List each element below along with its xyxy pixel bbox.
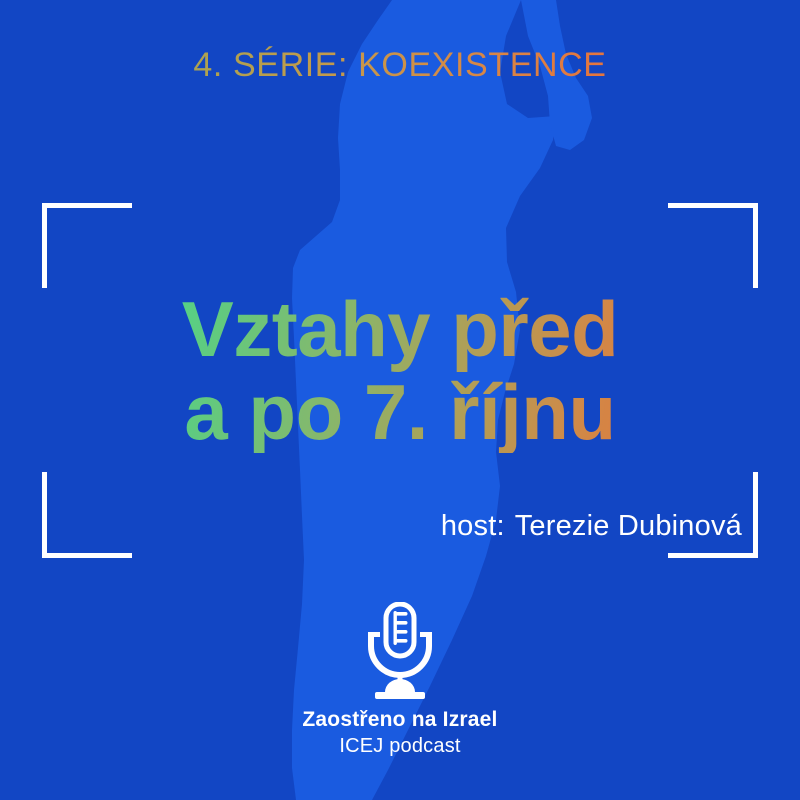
bracket-arm-vertical [42, 472, 47, 558]
bracket-arm-horizontal [42, 203, 132, 208]
corner-bracket-bottom-left [42, 472, 132, 558]
microphone-icon [357, 602, 443, 702]
bracket-arm-vertical [753, 472, 758, 558]
series-label: 4. SÉRIE: KOEXISTENCE [0, 46, 800, 85]
episode-title: Vztahy před a po 7. říjnu [0, 288, 800, 453]
bracket-arm-vertical [42, 203, 47, 288]
host-label: host: [441, 510, 505, 542]
bracket-arm-horizontal [668, 553, 758, 558]
episode-title-line-2: a po 7. říjnu [0, 371, 800, 454]
host-line: host:Terezie Dubinová [441, 510, 742, 543]
podcast-name: Zaostřeno na Izrael [0, 708, 800, 732]
podcast-logo: Zaostřeno na Izrael ICEJ podcast [0, 602, 800, 758]
host-name: Terezie Dubinová [515, 510, 742, 542]
corner-bracket-top-left [42, 203, 132, 288]
bracket-arm-horizontal [42, 553, 132, 558]
podcast-cover: 4. SÉRIE: KOEXISTENCE Vztahy před a po 7… [0, 0, 800, 800]
podcast-subtitle: ICEJ podcast [0, 735, 800, 758]
episode-title-line-1: Vztahy před [0, 288, 800, 371]
corner-bracket-top-right [668, 203, 758, 288]
bracket-arm-vertical [753, 203, 758, 288]
bracket-arm-horizontal [668, 203, 758, 208]
